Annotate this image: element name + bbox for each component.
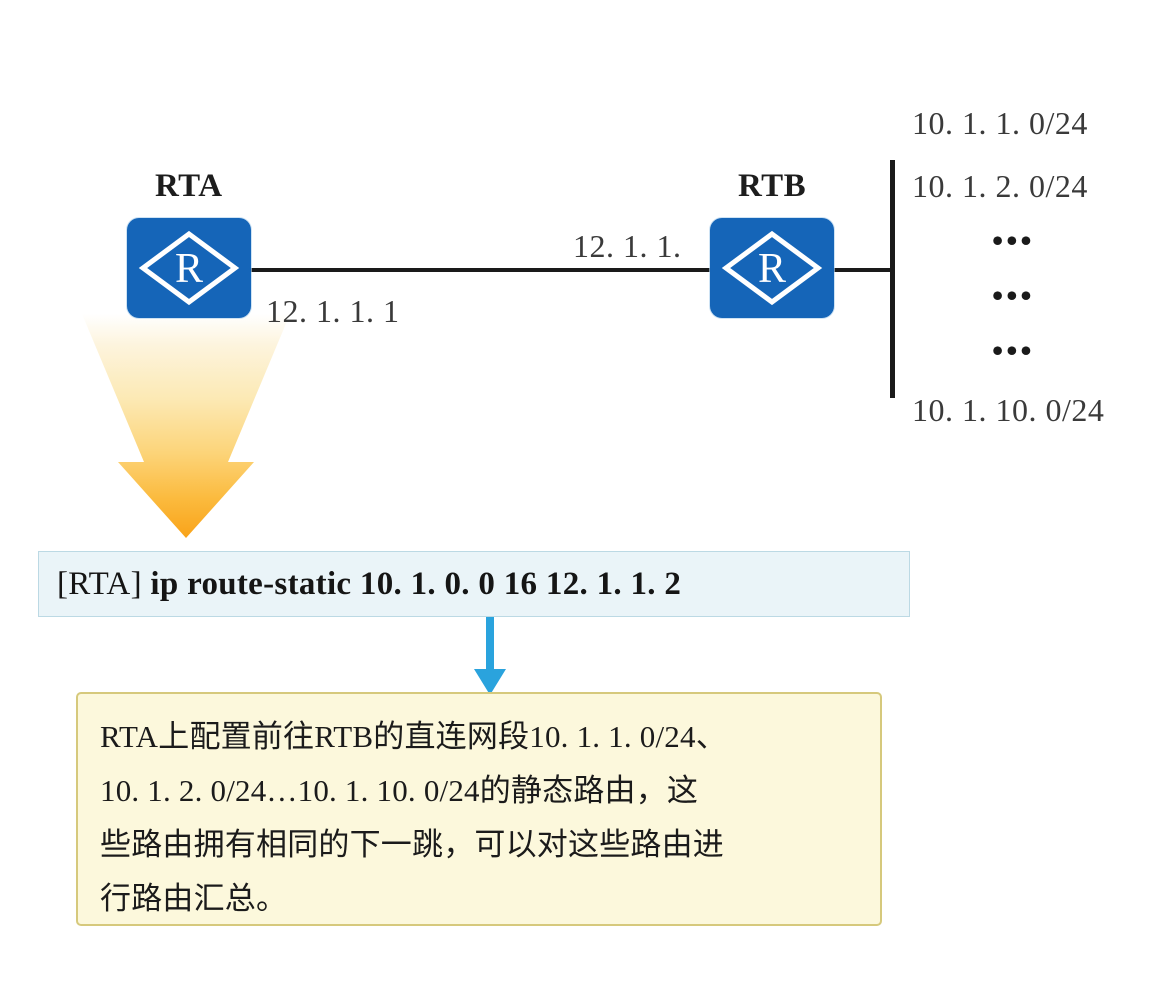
svg-text:R: R	[758, 246, 786, 292]
svg-text:R: R	[175, 246, 203, 292]
explanation-note-box: RTA上配置前往RTB的直连网段10. 1. 1. 0/24、 10. 1. 2…	[76, 692, 882, 926]
link-rtb-lan	[830, 268, 894, 272]
router-icon-rta[interactable]: R	[127, 218, 251, 318]
node-label-rtb: RTB	[738, 168, 806, 205]
command-text: ip route-static 10. 1. 0. 0 16 12. 1. 1.…	[150, 566, 681, 602]
subnet-ellipsis-3: •••	[992, 332, 1035, 369]
router-icon-rtb[interactable]: R	[710, 218, 834, 318]
note-line-3: 些路由拥有相同的下一跳，可以对这些路由进	[100, 818, 858, 872]
command-text-wrapper: [RTA] ip route-static 10. 1. 0. 0 16 12.…	[39, 566, 681, 603]
note-line-2: 10. 1. 2. 0/24…10. 1. 10. 0/24的静态路由，这	[100, 764, 858, 818]
command-prompt: [RTA]	[57, 566, 142, 602]
subnet-label-1: 10. 1. 1. 0/24	[912, 105, 1088, 142]
subnet-label-last: 10. 1. 10. 0/24	[912, 392, 1104, 429]
note-line-1: RTA上配置前往RTB的直连网段10. 1. 1. 0/24、	[100, 710, 858, 764]
link-rta-rtb	[248, 268, 716, 272]
interface-ip-rta: 12. 1. 1. 1	[266, 293, 400, 330]
node-label-rta: RTA	[155, 168, 223, 205]
interface-ip-rtb: 12. 1. 1.	[573, 228, 682, 265]
note-line-4: 行路由汇总。	[100, 872, 858, 926]
command-bar[interactable]: [RTA] ip route-static 10. 1. 0. 0 16 12.…	[38, 551, 910, 617]
diagram-canvas: RTA R RTB R 12. 1. 1. 12. 1. 1. 1 10. 1.…	[0, 0, 1157, 994]
blue-down-arrow-icon	[468, 617, 512, 697]
orange-funnel-arrow	[78, 312, 294, 540]
subnet-ellipsis-1: •••	[992, 222, 1035, 259]
subnet-label-2: 10. 1. 2. 0/24	[912, 168, 1088, 205]
subnet-ellipsis-2: •••	[992, 277, 1035, 314]
lan-segment-bar	[890, 160, 895, 398]
